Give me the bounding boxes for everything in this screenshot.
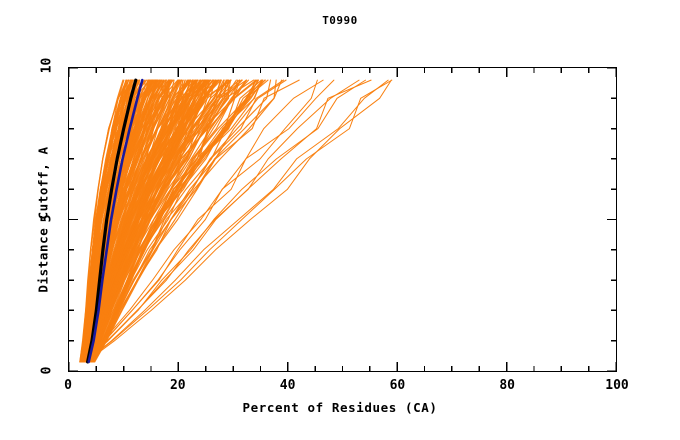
y-tick-label: 0 [40,358,55,384]
x-tick-label: 40 [265,378,311,393]
y-tick-label: 10 [40,53,55,79]
page-title: T0990 [0,14,680,27]
plot-area [68,67,617,372]
x-tick-label: 80 [484,378,530,393]
x-tick-label: 60 [374,378,420,393]
y-axis-label: Distance Cutoff, A [36,95,51,345]
x-tick-label: 100 [594,378,640,393]
x-tick-label: 20 [155,378,201,393]
x-axis-label: Percent of Residues (CA) [0,400,680,415]
axis-ticks-group [69,68,616,371]
chart-figure: T0990 020406080100 0510 Percent of Resid… [0,0,680,440]
